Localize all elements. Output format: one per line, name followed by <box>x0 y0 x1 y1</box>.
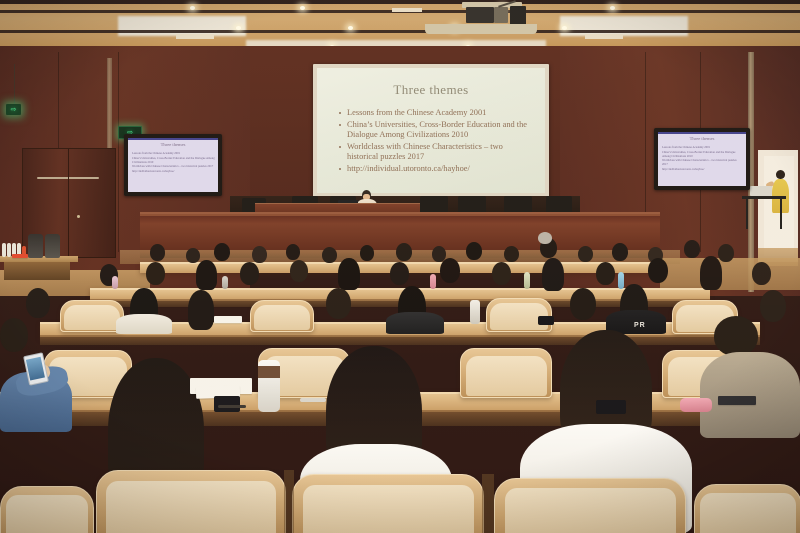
audience-head <box>492 262 511 285</box>
floor-right <box>660 258 800 290</box>
audience-head <box>146 262 165 285</box>
monitor-bullet: Lessons from the Chinese Academy 2001 <box>662 145 743 149</box>
water-bottle <box>2 243 6 257</box>
monitor-bullet: China’s Universities, Cross-Border Educa… <box>662 150 743 158</box>
water-bottle <box>470 300 480 324</box>
water-bottle <box>112 276 118 289</box>
thermos-dispenser <box>28 234 43 258</box>
audience-head <box>542 258 564 291</box>
exit-sign-hanging: ⇨ <box>6 104 21 115</box>
downlight <box>190 6 195 10</box>
projector-shroud <box>425 24 537 34</box>
audience-body <box>116 314 172 334</box>
audience-head <box>538 232 552 244</box>
audience-head <box>0 318 28 352</box>
water-bottle <box>258 360 280 412</box>
slide-bullet-list: Lessons from the Chinese Academy 2001 Ch… <box>337 108 533 176</box>
monitor-slide-title: Three themes <box>658 136 746 141</box>
stage-chair <box>504 196 532 212</box>
audience-head <box>752 262 771 285</box>
water-bottle <box>524 272 530 289</box>
ceiling-rail-2 <box>0 30 800 33</box>
audience-head <box>714 316 758 356</box>
water-bottle <box>618 272 624 289</box>
lecture-hall-photo: ⇨ ⇨ Three themes Lessons from the Chines… <box>0 0 800 533</box>
monitor-slide-bullets: Lessons from the Chinese Academy 2001 Ch… <box>132 151 215 173</box>
tshirt-print: PR <box>634 322 650 330</box>
exit-sign-glyph: ⇨ <box>11 106 17 113</box>
projector-icon <box>466 7 494 23</box>
slide-bullet: http://individual.utoronto.ca/hayhoe/ <box>337 164 533 175</box>
smartphone <box>596 400 626 414</box>
monitor-slide-title: Three themes <box>128 142 218 147</box>
audience-head <box>326 288 351 319</box>
monitor-bullet: http://individual.utoronto.ca/hayhoe/ <box>662 167 743 171</box>
audience-head <box>700 256 722 290</box>
downlight <box>300 6 305 10</box>
audience-chair[interactable] <box>460 348 552 398</box>
ceiling-light-panel-left <box>118 16 246 36</box>
audience-chair[interactable] <box>250 300 314 332</box>
downlight <box>348 26 353 30</box>
water-bottle <box>222 276 228 289</box>
monitor-bullet: http://individual.utoronto.ca/hayhoe/ <box>132 169 215 173</box>
audience-head <box>240 262 259 285</box>
equipment-device <box>750 186 772 196</box>
smartphone <box>214 396 240 412</box>
monitor-bullet: Worldclass with Chinese Characteristics … <box>132 164 215 168</box>
audience-chair[interactable] <box>292 474 484 533</box>
audience-chair[interactable] <box>96 470 286 533</box>
audience-head <box>596 262 615 285</box>
ceiling-vent-left <box>176 34 214 39</box>
audience-chair[interactable] <box>494 478 686 533</box>
water-bottle <box>7 243 11 257</box>
ceiling-light-panel-right <box>560 16 688 36</box>
stage-chair <box>546 196 572 212</box>
slide-bullet: Worldclass with Chinese Characteristics … <box>337 142 533 163</box>
projection-screen: Three themes Lessons from the Chinese Ac… <box>317 68 545 193</box>
audience-head <box>338 258 360 290</box>
audience-chair[interactable] <box>60 300 124 332</box>
slide-bullet: Lessons from the Chinese Academy 2001 <box>337 108 533 119</box>
audience-head <box>150 244 165 261</box>
monitor-bullet: Lessons from the Chinese Academy 2001 <box>132 151 215 155</box>
thermos-dispenser <box>45 234 60 258</box>
audience-head <box>214 243 230 261</box>
right-wall-monitor: Three themes Lessons from the Chinese Ac… <box>654 128 750 190</box>
audience-head <box>252 246 267 263</box>
audience-head <box>196 260 217 290</box>
audience-head <box>718 244 734 262</box>
audience-head <box>286 244 300 260</box>
audience-head <box>504 246 519 262</box>
water-bottle <box>430 274 436 289</box>
monitor-bullet: China’s Universities, Cross-Border Educa… <box>132 156 215 164</box>
note-paper <box>214 316 242 323</box>
monitor-slide-bullets: Lessons from the Chinese Academy 2001 Ch… <box>662 145 743 171</box>
audience-head <box>570 288 596 320</box>
audience-body <box>700 352 800 438</box>
downlight <box>610 6 615 10</box>
audience-head <box>440 258 460 283</box>
ceiling-speaker-icon <box>510 6 526 26</box>
note-paper <box>718 396 756 405</box>
smartphone <box>538 316 554 325</box>
ceiling-vent-right <box>585 34 623 39</box>
ceiling-vent-center <box>392 8 422 12</box>
earphones <box>300 398 326 402</box>
audience-head <box>648 258 668 283</box>
pen <box>218 405 246 408</box>
audience-head <box>684 240 700 258</box>
audience-chair[interactable] <box>0 486 94 533</box>
stage-chair <box>458 196 486 212</box>
audience-head <box>466 242 482 260</box>
audience-head <box>186 248 200 263</box>
monitor-bullet: Worldclass with Chinese Characteristics … <box>662 158 743 166</box>
audience-head <box>578 246 593 262</box>
audience-chair[interactable] <box>486 298 552 332</box>
audience-chair[interactable] <box>694 484 800 533</box>
audience-head <box>396 243 412 261</box>
slide-title: Three themes <box>317 82 545 98</box>
audience-head <box>612 243 628 261</box>
slide-bullet: China’s Universities, Cross-Border Educa… <box>337 120 533 141</box>
left-wall-monitor: Three themes Lessons from the Chinese Ac… <box>124 134 222 196</box>
audience-head <box>390 262 409 285</box>
audience-head <box>188 290 214 330</box>
stage-chair <box>420 196 448 212</box>
audience-body <box>386 312 444 334</box>
audience-head <box>26 288 50 318</box>
staff-person-head <box>776 170 785 179</box>
pencil-pouch <box>680 398 712 412</box>
audience-head <box>360 245 374 261</box>
audience-head <box>290 260 308 282</box>
audience-head <box>322 247 337 263</box>
downlight <box>562 26 567 30</box>
audience-head <box>760 290 786 322</box>
table-cloth <box>12 254 28 258</box>
downlight <box>236 26 241 30</box>
